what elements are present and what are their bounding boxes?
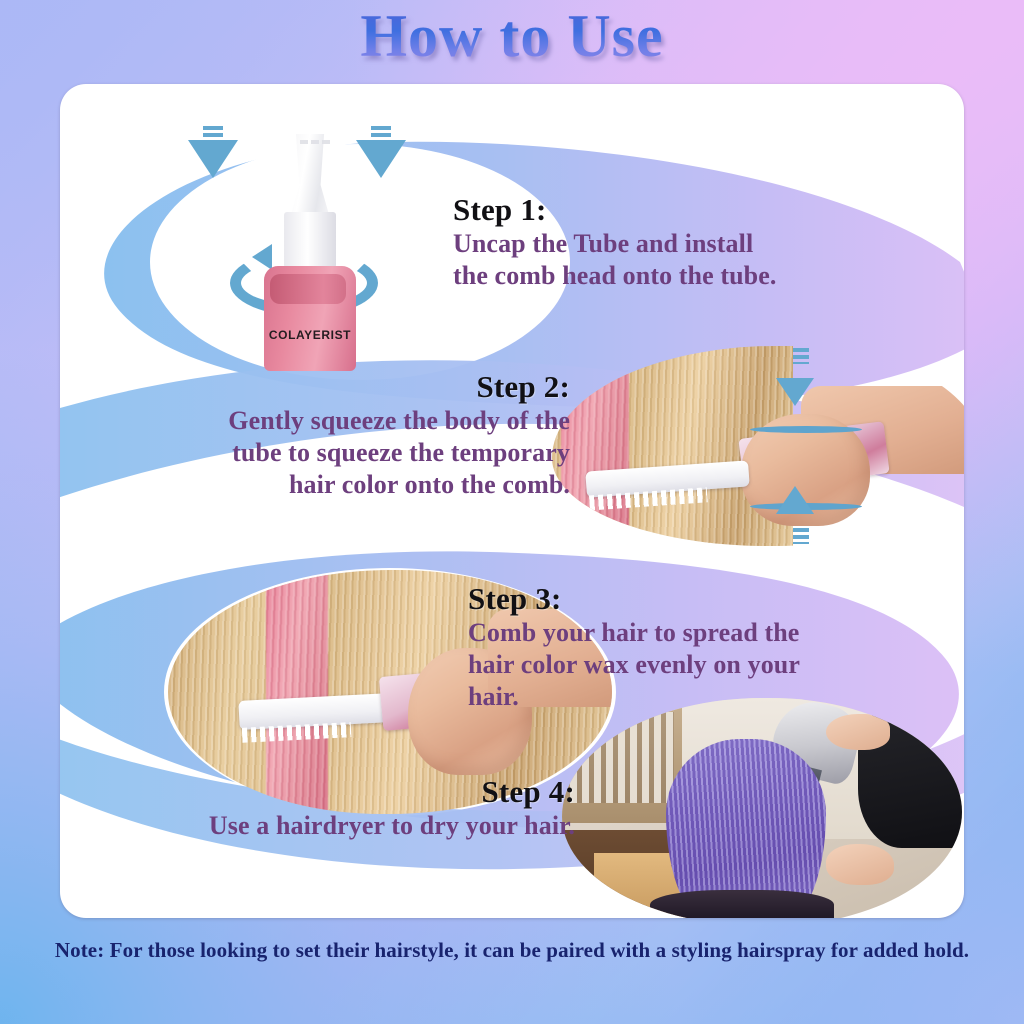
step-4-line-1: Use a hairdryer to dry your hair. — [90, 810, 575, 842]
page-title: How to Use — [360, 4, 663, 68]
arrow-down-right-icon — [356, 140, 406, 178]
squeeze-arrow-down-icon — [776, 378, 814, 406]
step-4-body: Use a hairdryer to dry your hair. — [90, 810, 575, 842]
step-3-line-3: hair. — [468, 681, 898, 713]
step-1-line-1: Uncap the Tube and install — [453, 228, 893, 260]
page-title-wrapper: How to Use — [0, 4, 1024, 76]
step-1-body: Uncap the Tube and install the comb head… — [453, 228, 893, 292]
step-1-illustration: COLAYERIST — [155, 126, 465, 371]
squeeze-arrow-up-icon — [776, 486, 814, 514]
step-4-photo — [562, 698, 962, 918]
step-3-text: Step 3: Comb your hair to spread the hai… — [468, 581, 898, 713]
tube-body-graphic: COLAYERIST — [264, 266, 356, 371]
step-2-line-2: tube to squeeze the temporary — [80, 437, 570, 469]
product-tube-graphic: COLAYERIST — [160, 126, 460, 371]
step-1-line-2: the comb head onto the tube. — [453, 260, 893, 292]
step-2-label: Step 2: — [80, 369, 570, 405]
steps-card: COLAYERIST — [60, 84, 964, 918]
step-3-line-2: hair color wax evenly on your — [468, 649, 898, 681]
step-2-photo — [552, 346, 964, 546]
step-3-label: Step 3: — [468, 581, 898, 617]
footer-note: Note: For those looking to set their hai… — [0, 938, 1024, 963]
product-brand-label: COLAYERIST — [264, 328, 356, 342]
step-1-text: Step 1: Uncap the Tube and install the c… — [453, 192, 893, 292]
comb-head-graphic — [288, 134, 332, 216]
step-2-line-3: hair color onto the comb. — [80, 469, 570, 501]
step-3-body: Comb your hair to spread the hair color … — [468, 617, 898, 713]
step-2-line-1: Gently squeeze the body of the — [80, 405, 570, 437]
step-2-body: Gently squeeze the body of the tube to s… — [80, 405, 570, 501]
step-1-label: Step 1: — [453, 192, 893, 228]
comb-teeth-graphic — [300, 140, 330, 144]
arrow-stem-left-icon — [203, 126, 223, 138]
step-2-text: Step 2: Gently squeeze the body of the t… — [80, 369, 570, 501]
arrow-down-left-icon — [188, 140, 238, 178]
step-4-text: Step 4: Use a hairdryer to dry your hair… — [90, 774, 575, 842]
arrow-stem-right-icon — [371, 126, 391, 138]
poster-root: How to Use — [0, 0, 1024, 1024]
step-3-line-1: Comb your hair to spread the — [468, 617, 898, 649]
step-4-label: Step 4: — [90, 774, 575, 810]
